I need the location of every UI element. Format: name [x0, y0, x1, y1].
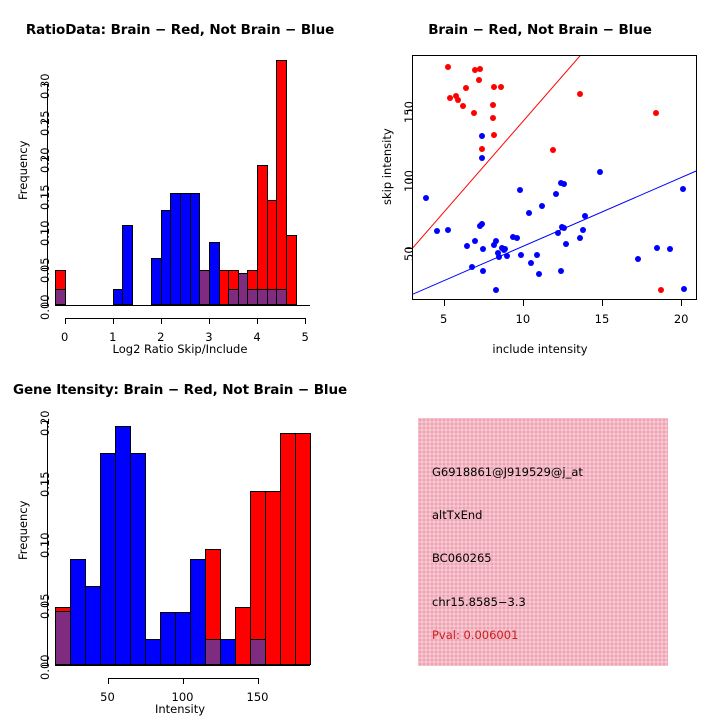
gene-bar-notbrain	[130, 453, 146, 665]
scatter-point-notbrain	[423, 195, 429, 201]
gene-histogram-plot-area: 0.000.050.100.150.2050100150	[0, 360, 360, 720]
scatter-point-brain	[490, 102, 496, 108]
gene-x-tick	[258, 678, 259, 684]
gene-x-tick-label: 150	[240, 690, 276, 704]
gene-bar-notbrain	[145, 639, 161, 665]
gene-y-tick-label: 0.05	[38, 593, 52, 619]
scatter-point-notbrain	[434, 228, 440, 234]
ratio-histogram-plot-area: 0.000.050.100.150.200.250.30012345	[0, 0, 360, 360]
scatter-x-tick-label: 15	[588, 312, 616, 326]
ratio-x-tick	[305, 318, 306, 324]
scatter-point-notbrain	[558, 268, 564, 274]
scatter-x-tick	[523, 300, 524, 306]
scatter-point-brain	[460, 103, 466, 109]
event-type-text: altTxEnd	[432, 508, 482, 522]
scatter-point-notbrain	[667, 246, 673, 252]
scatter-point-brain	[550, 147, 556, 153]
ratio-x-tick-label: 4	[243, 330, 271, 344]
scatter-point-brain	[653, 110, 659, 116]
scatter-point-notbrain	[526, 210, 532, 216]
gene-y-tick-label: 0.00	[38, 654, 52, 680]
probe-info-panel: G6918861@J919529@j_at altTxEnd BC060265 …	[418, 418, 668, 666]
scatter-x-tick-label: 5	[430, 312, 458, 326]
gene-y-tick-label: 0.10	[38, 532, 52, 558]
pvalue-text: Pval: 0.006001	[432, 628, 518, 642]
gene-x-tick-label: 50	[90, 690, 126, 704]
ratio-bar-overlap	[199, 270, 210, 305]
scatter-fit-line-brain	[413, 56, 581, 248]
scatter-point-notbrain	[681, 286, 687, 292]
scatter-point-notbrain	[504, 253, 510, 259]
scatter-point-notbrain	[479, 221, 485, 227]
scatter-point-notbrain	[534, 252, 540, 258]
locus-text: chr15.8585−3.3	[432, 595, 526, 609]
scatter-point-notbrain	[553, 191, 559, 197]
ratio-x-axis	[65, 318, 307, 319]
scatter-point-notbrain	[445, 227, 451, 233]
ratio-x-tick	[257, 318, 258, 324]
scatter-plot-area: 501001505101520	[360, 0, 720, 360]
ratio-x-tick	[65, 318, 66, 324]
scatter-point-brain	[471, 110, 477, 116]
gene-x-tick-label: 100	[165, 690, 201, 704]
ratio-x-tick-label: 0	[51, 330, 79, 344]
ratio-bar-overlap	[55, 289, 66, 305]
scatter-point-notbrain	[518, 252, 524, 258]
gene-bar-notbrain	[85, 586, 101, 665]
scatter-x-tick-label: 20	[667, 312, 695, 326]
scatter-point-notbrain	[496, 254, 502, 260]
ratio-x-tick-label: 5	[291, 330, 319, 344]
scatter-point-notbrain	[561, 181, 567, 187]
scatter-point-brain	[447, 95, 453, 101]
scatter-point-notbrain	[480, 246, 486, 252]
scatter-point-brain	[476, 77, 482, 83]
ratio-y-tick-label: 0.05	[38, 258, 52, 284]
scatter-point-notbrain	[493, 287, 499, 293]
ratio-x-tick	[113, 318, 114, 324]
scatter-point-notbrain	[635, 256, 641, 262]
gene-bar-brain	[265, 491, 281, 665]
gene-bar-notbrain	[220, 639, 236, 665]
scatter-point-notbrain	[528, 260, 534, 266]
gene-intensity-histogram-panel: Gene Itensity: Brain − Red, Not Brain − …	[0, 360, 360, 720]
scatter-point-notbrain	[514, 235, 520, 241]
scatter-point-brain	[479, 146, 485, 152]
scatter-point-notbrain	[479, 133, 485, 139]
intensity-scatter-panel: Brain − Red, Not Brain − Blue skip inten…	[360, 0, 720, 360]
ratio-y-tick-label: 0.10	[38, 221, 52, 247]
scatter-x-tick	[681, 300, 682, 306]
scatter-point-brain	[491, 84, 497, 90]
scatter-point-brain	[445, 64, 451, 70]
ratio-x-tick	[209, 318, 210, 324]
gene-bar-notbrain	[160, 612, 176, 665]
scatter-point-brain	[658, 287, 664, 293]
scatter-point-notbrain	[561, 225, 567, 231]
ratio-x-tick-label: 3	[195, 330, 223, 344]
scatter-x-tick-label: 10	[509, 312, 537, 326]
ratio-y-tick-label: 0.15	[38, 184, 52, 210]
scatter-point-notbrain	[555, 230, 561, 236]
ratio-bar-notbrain	[122, 225, 133, 305]
gene-bar-notbrain	[175, 612, 191, 665]
scatter-point-notbrain	[472, 238, 478, 244]
scatter-point-notbrain	[469, 264, 475, 270]
scatter-point-brain	[577, 91, 583, 97]
gene-x-tick	[108, 678, 109, 684]
ratio-x-tick-label: 1	[99, 330, 127, 344]
scatter-clip	[413, 56, 696, 299]
scatter-point-notbrain	[577, 235, 583, 241]
scatter-x-tick	[602, 300, 603, 306]
scatter-x-tick	[444, 300, 445, 306]
scatter-point-notbrain	[479, 155, 485, 161]
scatter-point-notbrain	[517, 187, 523, 193]
scatter-point-brain	[490, 115, 496, 121]
gene-x-tick	[183, 678, 184, 684]
scatter-point-notbrain	[493, 238, 499, 244]
scatter-point-brain	[477, 66, 483, 72]
scatter-point-notbrain	[582, 213, 588, 219]
scatter-point-notbrain	[654, 245, 660, 251]
gene-bar-notbrain	[190, 559, 206, 665]
scatter-point-notbrain	[680, 186, 686, 192]
gene-bar-brain	[280, 433, 296, 665]
scatter-point-notbrain	[480, 268, 486, 274]
ratio-x-tick	[161, 318, 162, 324]
ratio-y-tick-label: 0.25	[38, 111, 52, 137]
probe-id-text: G6918861@J919529@j_at	[432, 465, 583, 479]
gene-bar-overlap	[250, 639, 266, 665]
scatter-point-notbrain	[597, 169, 603, 175]
accession-text: BC060265	[432, 551, 492, 565]
gene-y-tick-label: 0.20	[38, 410, 52, 436]
ratio-x-tick-label: 2	[147, 330, 175, 344]
scatter-point-brain	[491, 132, 497, 138]
scatter-point-notbrain	[536, 271, 542, 277]
gene-bar-notbrain	[70, 559, 86, 665]
gene-bar-overlap	[205, 639, 221, 665]
gene-bar-brain	[235, 607, 251, 665]
ratio-baseline	[55, 305, 310, 306]
ratio-y-tick-label: 0.20	[38, 147, 52, 173]
scatter-point-brain	[498, 84, 504, 90]
gene-bar-notbrain	[100, 453, 116, 665]
scatter-point-brain	[455, 97, 461, 103]
gene-bar-brain	[295, 433, 311, 665]
gene-bar-notbrain	[115, 426, 131, 665]
scatter-point-notbrain	[464, 243, 470, 249]
scatter-point-notbrain	[580, 227, 586, 233]
scatter-point-notbrain	[563, 241, 569, 247]
gene-y-tick-label: 0.15	[38, 471, 52, 497]
gene-baseline	[55, 665, 310, 666]
scatter-point-brain	[463, 85, 469, 91]
ratio-histogram-panel: RatioData: Brain − Red, Not Brain − Blue…	[0, 0, 360, 360]
ratio-y-tick-label: 0.00	[38, 294, 52, 320]
ratio-bar-brain	[286, 235, 297, 305]
gene-bar-overlap	[55, 611, 71, 665]
ratio-bar-overlap	[276, 289, 287, 305]
scatter-point-notbrain	[539, 203, 545, 209]
ratio-y-tick-label: 0.30	[38, 74, 52, 100]
